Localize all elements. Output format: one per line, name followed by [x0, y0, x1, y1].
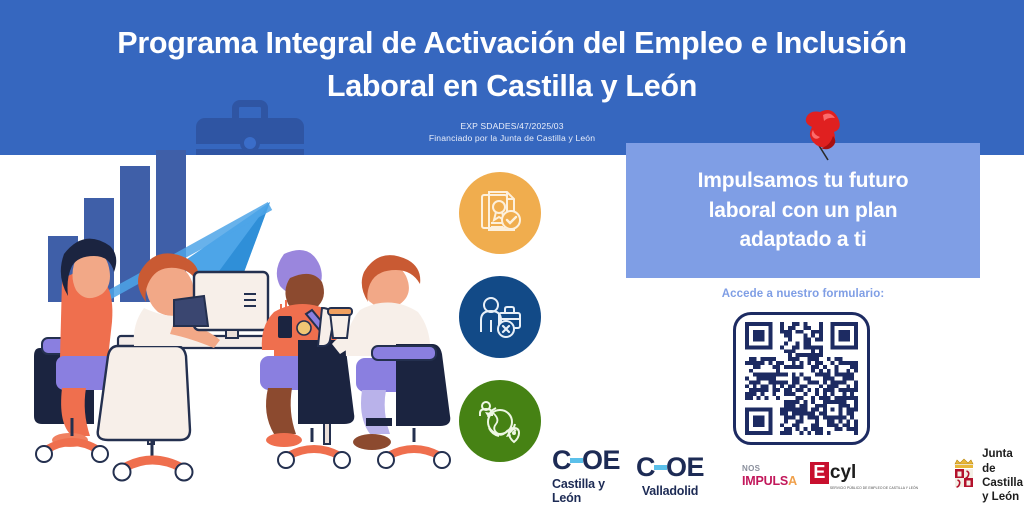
nos-impulsa-accent-letter: A — [788, 474, 797, 488]
ceoe-wordmark: COE — [636, 454, 704, 481]
title-line-1: Programa Integral de Activación del Empl… — [0, 22, 1024, 65]
logo-bar: COE Castilla y León COE Valladolid NOS I… — [552, 448, 1024, 504]
logo-ecyl: E cyl SERVICIO PÚBLICO DE EMPLEO DE CAST… — [810, 462, 918, 490]
nos-impulsa-top: NOS — [742, 465, 797, 473]
junta-line-2: Castilla y León — [982, 476, 1023, 505]
pushpin-icon — [792, 104, 856, 174]
junta-label: Junta de Castilla y León — [982, 447, 1023, 505]
ecyl-mark-rest: cyl — [830, 462, 856, 483]
callout-line-2: laboral con un plan — [698, 196, 909, 226]
ceoe-cyl-subtitle: Castilla y León — [552, 477, 620, 505]
logo-ceoe-castilla-y-leon: COE Castilla y León — [552, 447, 620, 505]
certificate-check-icon — [477, 190, 523, 236]
nos-impulsa-main: IMPULSA — [742, 475, 797, 488]
logo-nos-impulsa: NOS IMPULSA — [742, 465, 797, 488]
feature-icon-list — [459, 172, 555, 484]
callout-text: Impulsamos tu futuro laboral con un plan… — [682, 166, 925, 255]
coat-of-arms-icon — [951, 458, 977, 494]
qr-code[interactable] — [733, 312, 870, 445]
ecyl-wordmark: E cyl — [810, 462, 918, 484]
page-title: Programa Integral de Activación del Empl… — [0, 22, 1024, 109]
globe-arrows-person-pin-icon — [477, 398, 523, 444]
team-meeting-illustration — [22, 150, 452, 495]
feature-icon-unemployment[interactable] — [459, 276, 541, 358]
callout-line-3: adaptado a ti — [698, 225, 909, 255]
ceoe-valladolid-subtitle: Valladolid — [642, 484, 698, 498]
ecyl-mark-letter: E — [810, 462, 829, 484]
ceoe-accent-bar — [654, 465, 667, 470]
exp-code: EXP SDADES/47/2025/03 — [0, 120, 1024, 132]
promotional-poster: Programa Integral de Activación del Empl… — [0, 0, 1024, 508]
title-line-2: Laboral en Castilla y León — [0, 65, 1024, 108]
header-meta: EXP SDADES/47/2025/03 Financiado por la … — [0, 120, 1024, 145]
person-briefcase-x-icon — [477, 294, 523, 340]
junta-line-1: Junta de — [982, 447, 1023, 476]
feature-icon-certificate[interactable] — [459, 172, 541, 254]
logo-ceoe-valladolid: COE Valladolid — [636, 454, 704, 498]
ecyl-subtitle: SERVICIO PÚBLICO DE EMPLEO DE CASTILLA Y… — [830, 486, 918, 490]
nos-impulsa-word: IMPULS — [742, 474, 788, 488]
ceoe-wordmark: COE — [552, 447, 620, 474]
funding-note: Financiado por la Junta de Castilla y Le… — [0, 132, 1024, 144]
qr-caption: Accede a nuestro formulario: — [626, 288, 980, 300]
logo-junta-castilla-y-leon: Junta de Castilla y León — [951, 447, 1023, 505]
feature-icon-mobility[interactable] — [459, 380, 541, 462]
ceoe-accent-bar — [570, 458, 583, 463]
